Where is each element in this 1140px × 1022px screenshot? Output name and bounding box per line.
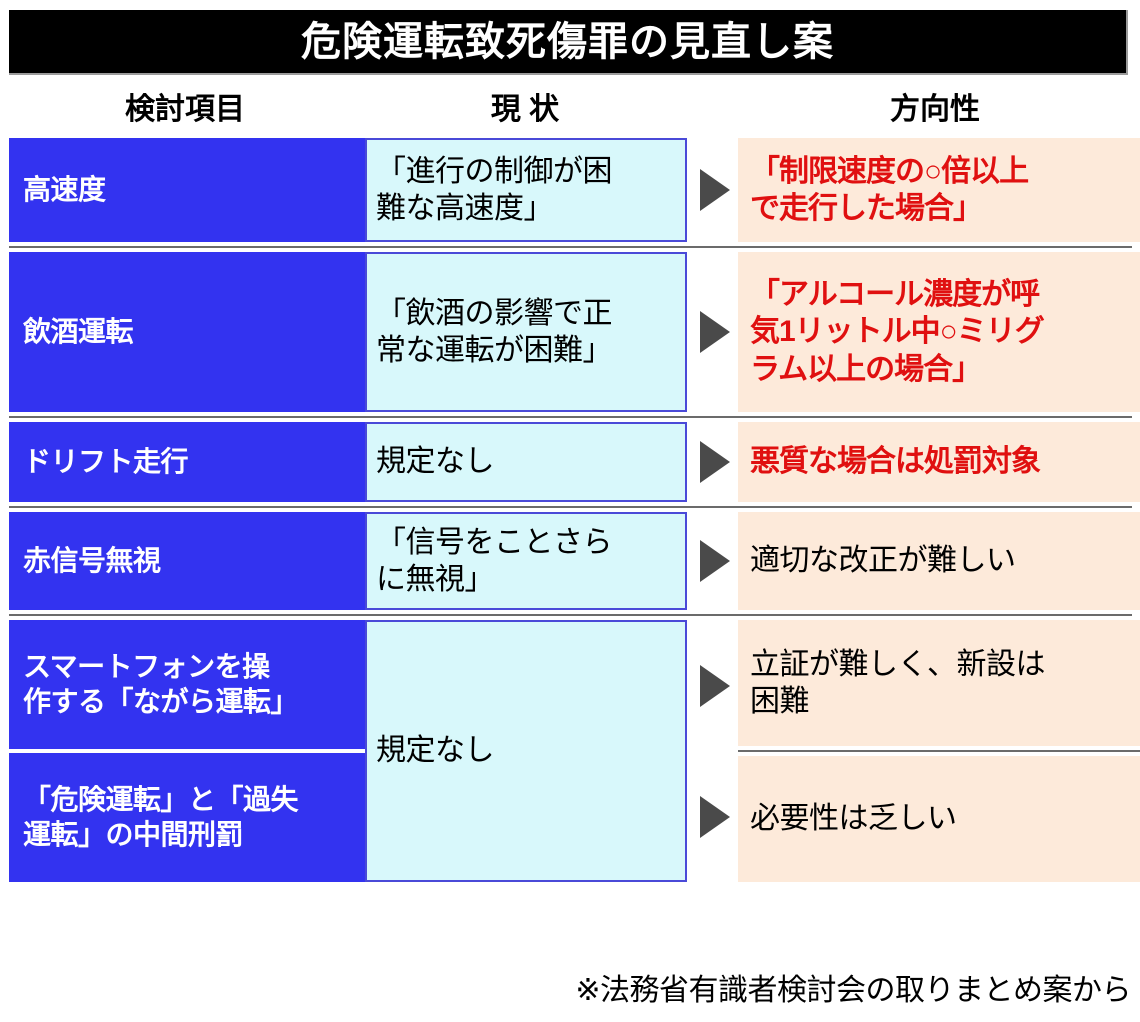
row-current-text: 「信号をことさら に無視」 bbox=[365, 512, 687, 610]
row-current-text: 「進行の制御が困 難な高速度」 bbox=[365, 138, 687, 242]
table-row: 高速度 「進行の制御が困 難な高速度」 「制限速度の○倍以上 で走行した場合」 bbox=[0, 138, 1140, 242]
row-direction-text: 「制限速度の○倍以上 で走行した場合」 bbox=[738, 138, 1140, 242]
row-current-text-spanned: 規定なし bbox=[365, 620, 687, 882]
right-arrow-icon bbox=[700, 169, 730, 211]
right-arrow-icon bbox=[700, 540, 730, 582]
right-arrow-icon bbox=[700, 796, 730, 838]
page-title: 危険運転致死傷罪の見直し案 bbox=[301, 22, 834, 62]
column-header-row: 検討項目 現 状 方向性 bbox=[0, 92, 1140, 132]
row-direction-text: 必要性は乏しい bbox=[738, 756, 1140, 882]
title-bar: 危険運転致死傷罪の見直し案 bbox=[9, 10, 1128, 75]
row-separator bbox=[0, 610, 1140, 620]
right-arrow-icon bbox=[700, 441, 730, 483]
table-row-grouped: スマートフォンを操 作する「ながら運転」 「危険運転」と「過失 運転」の中間刑罰… bbox=[0, 620, 1140, 882]
row-item-label: スマートフォンを操 作する「ながら運転」 bbox=[9, 620, 365, 749]
row-separator bbox=[0, 242, 1140, 252]
arrow-gutter bbox=[687, 252, 738, 412]
row-direction-text: 立証が難しく、新設は 困難 bbox=[738, 620, 1140, 746]
row-direction-group: 立証が難しく、新設は 困難 必要性は乏しい bbox=[738, 620, 1140, 882]
arrow-slot bbox=[696, 620, 730, 751]
column-header-direction: 方向性 bbox=[835, 92, 1035, 128]
arrow-gutter bbox=[687, 512, 738, 610]
row-item-label-group: スマートフォンを操 作する「ながら運転」 「危険運転」と「過失 運転」の中間刑罰 bbox=[9, 620, 365, 882]
table-row: 飲酒運転 「飲酒の影響で正 常な運転が困難」 「アルコール濃度が呼 気1リットル… bbox=[0, 252, 1140, 412]
comparison-table: 高速度 「進行の制御が困 難な高速度」 「制限速度の○倍以上 で走行した場合」 … bbox=[0, 138, 1140, 882]
column-header-current: 現 状 bbox=[425, 92, 625, 128]
row-item-label: 「危険運転」と「過失 運転」の中間刑罰 bbox=[9, 753, 365, 882]
row-item-label: ドリフト走行 bbox=[9, 422, 365, 502]
row-separator bbox=[0, 502, 1140, 512]
row-current-text: 「飲酒の影響で正 常な運転が困難」 bbox=[365, 252, 687, 412]
row-item-label: 赤信号無視 bbox=[9, 512, 365, 610]
row-direction-text: 悪質な場合は処罰対象 bbox=[738, 422, 1140, 502]
row-direction-text: 「アルコール濃度が呼 気1リットル中○ミリグ ラム以上の場合」 bbox=[738, 252, 1140, 412]
table-row: 赤信号無視 「信号をことさら に無視」 適切な改正が難しい bbox=[0, 512, 1140, 610]
row-item-label: 飲酒運転 bbox=[9, 252, 365, 412]
row-direction-text: 適切な改正が難しい bbox=[738, 512, 1140, 610]
source-footnote: ※法務省有識者検討会の取りまとめ案から bbox=[0, 972, 1131, 1010]
right-arrow-icon bbox=[700, 665, 730, 707]
table-row: ドリフト走行 規定なし 悪質な場合は処罰対象 bbox=[0, 422, 1140, 502]
row-separator bbox=[0, 412, 1140, 422]
arrow-gutter-group bbox=[687, 620, 738, 882]
right-arrow-icon bbox=[700, 311, 730, 353]
row-current-text: 規定なし bbox=[365, 422, 687, 502]
column-header-item: 検討項目 bbox=[85, 92, 285, 128]
arrow-gutter bbox=[687, 422, 738, 502]
arrow-gutter bbox=[687, 138, 738, 242]
arrow-slot bbox=[696, 751, 730, 882]
direction-divider bbox=[738, 746, 1140, 756]
row-item-label: 高速度 bbox=[9, 138, 365, 242]
